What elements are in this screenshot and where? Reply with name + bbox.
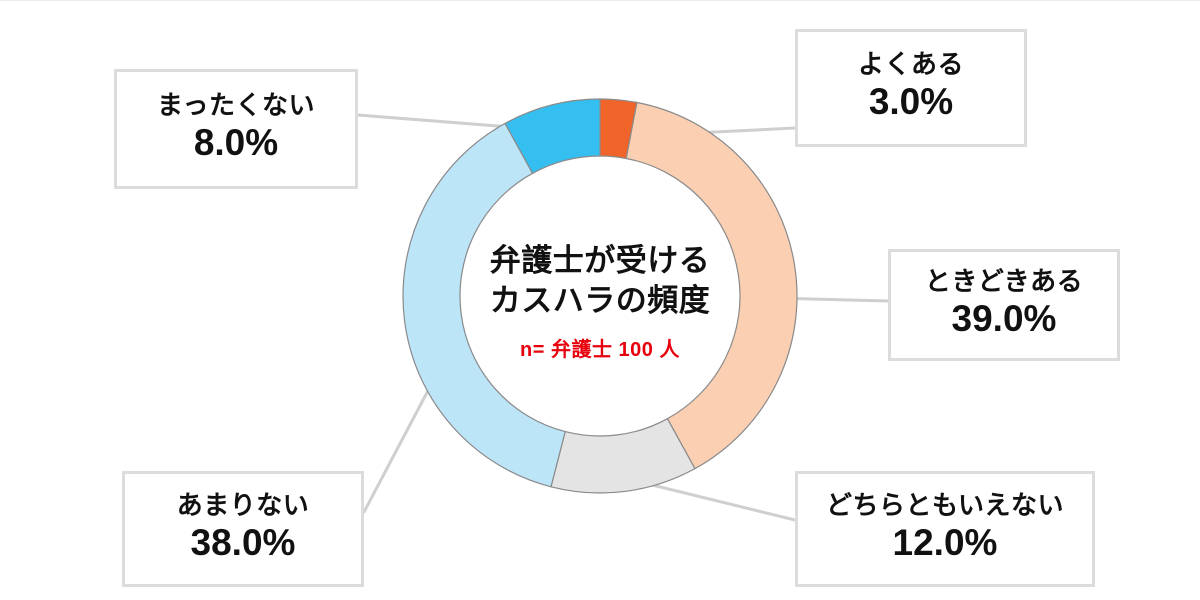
callout-value-label: 38.0% — [135, 523, 351, 564]
donut-slice — [626, 102, 797, 468]
donut-svg — [400, 96, 800, 496]
callout-dochiratomoienai: どちらともいえない 12.0% — [795, 471, 1095, 587]
callout-mattakunai: まったくない 8.0% — [114, 69, 358, 189]
callout-value-label: 12.0% — [808, 523, 1082, 564]
donut-slice — [403, 123, 565, 486]
callout-category-label: あまりない — [135, 491, 351, 521]
callout-value-label: 3.0% — [808, 82, 1014, 123]
callout-amarinai: あまりない 38.0% — [122, 471, 364, 587]
donut-slice — [551, 419, 695, 493]
chart-canvas: 弁護士が受ける カスハラの頻度 n= 弁護士 100 人 よくある 3.0% と… — [0, 0, 1200, 600]
callout-tokidokiaru: ときどきある 39.0% — [888, 249, 1120, 361]
callout-value-label: 8.0% — [127, 123, 345, 164]
callout-category-label: どちらともいえない — [808, 491, 1082, 521]
callout-value-label: 39.0% — [901, 299, 1107, 340]
callout-yokuaru: よくある 3.0% — [795, 29, 1027, 147]
callout-category-label: まったくない — [127, 91, 345, 121]
donut-chart — [400, 96, 800, 496]
callout-category-label: よくある — [808, 50, 1014, 80]
callout-category-label: ときどきある — [901, 267, 1107, 297]
